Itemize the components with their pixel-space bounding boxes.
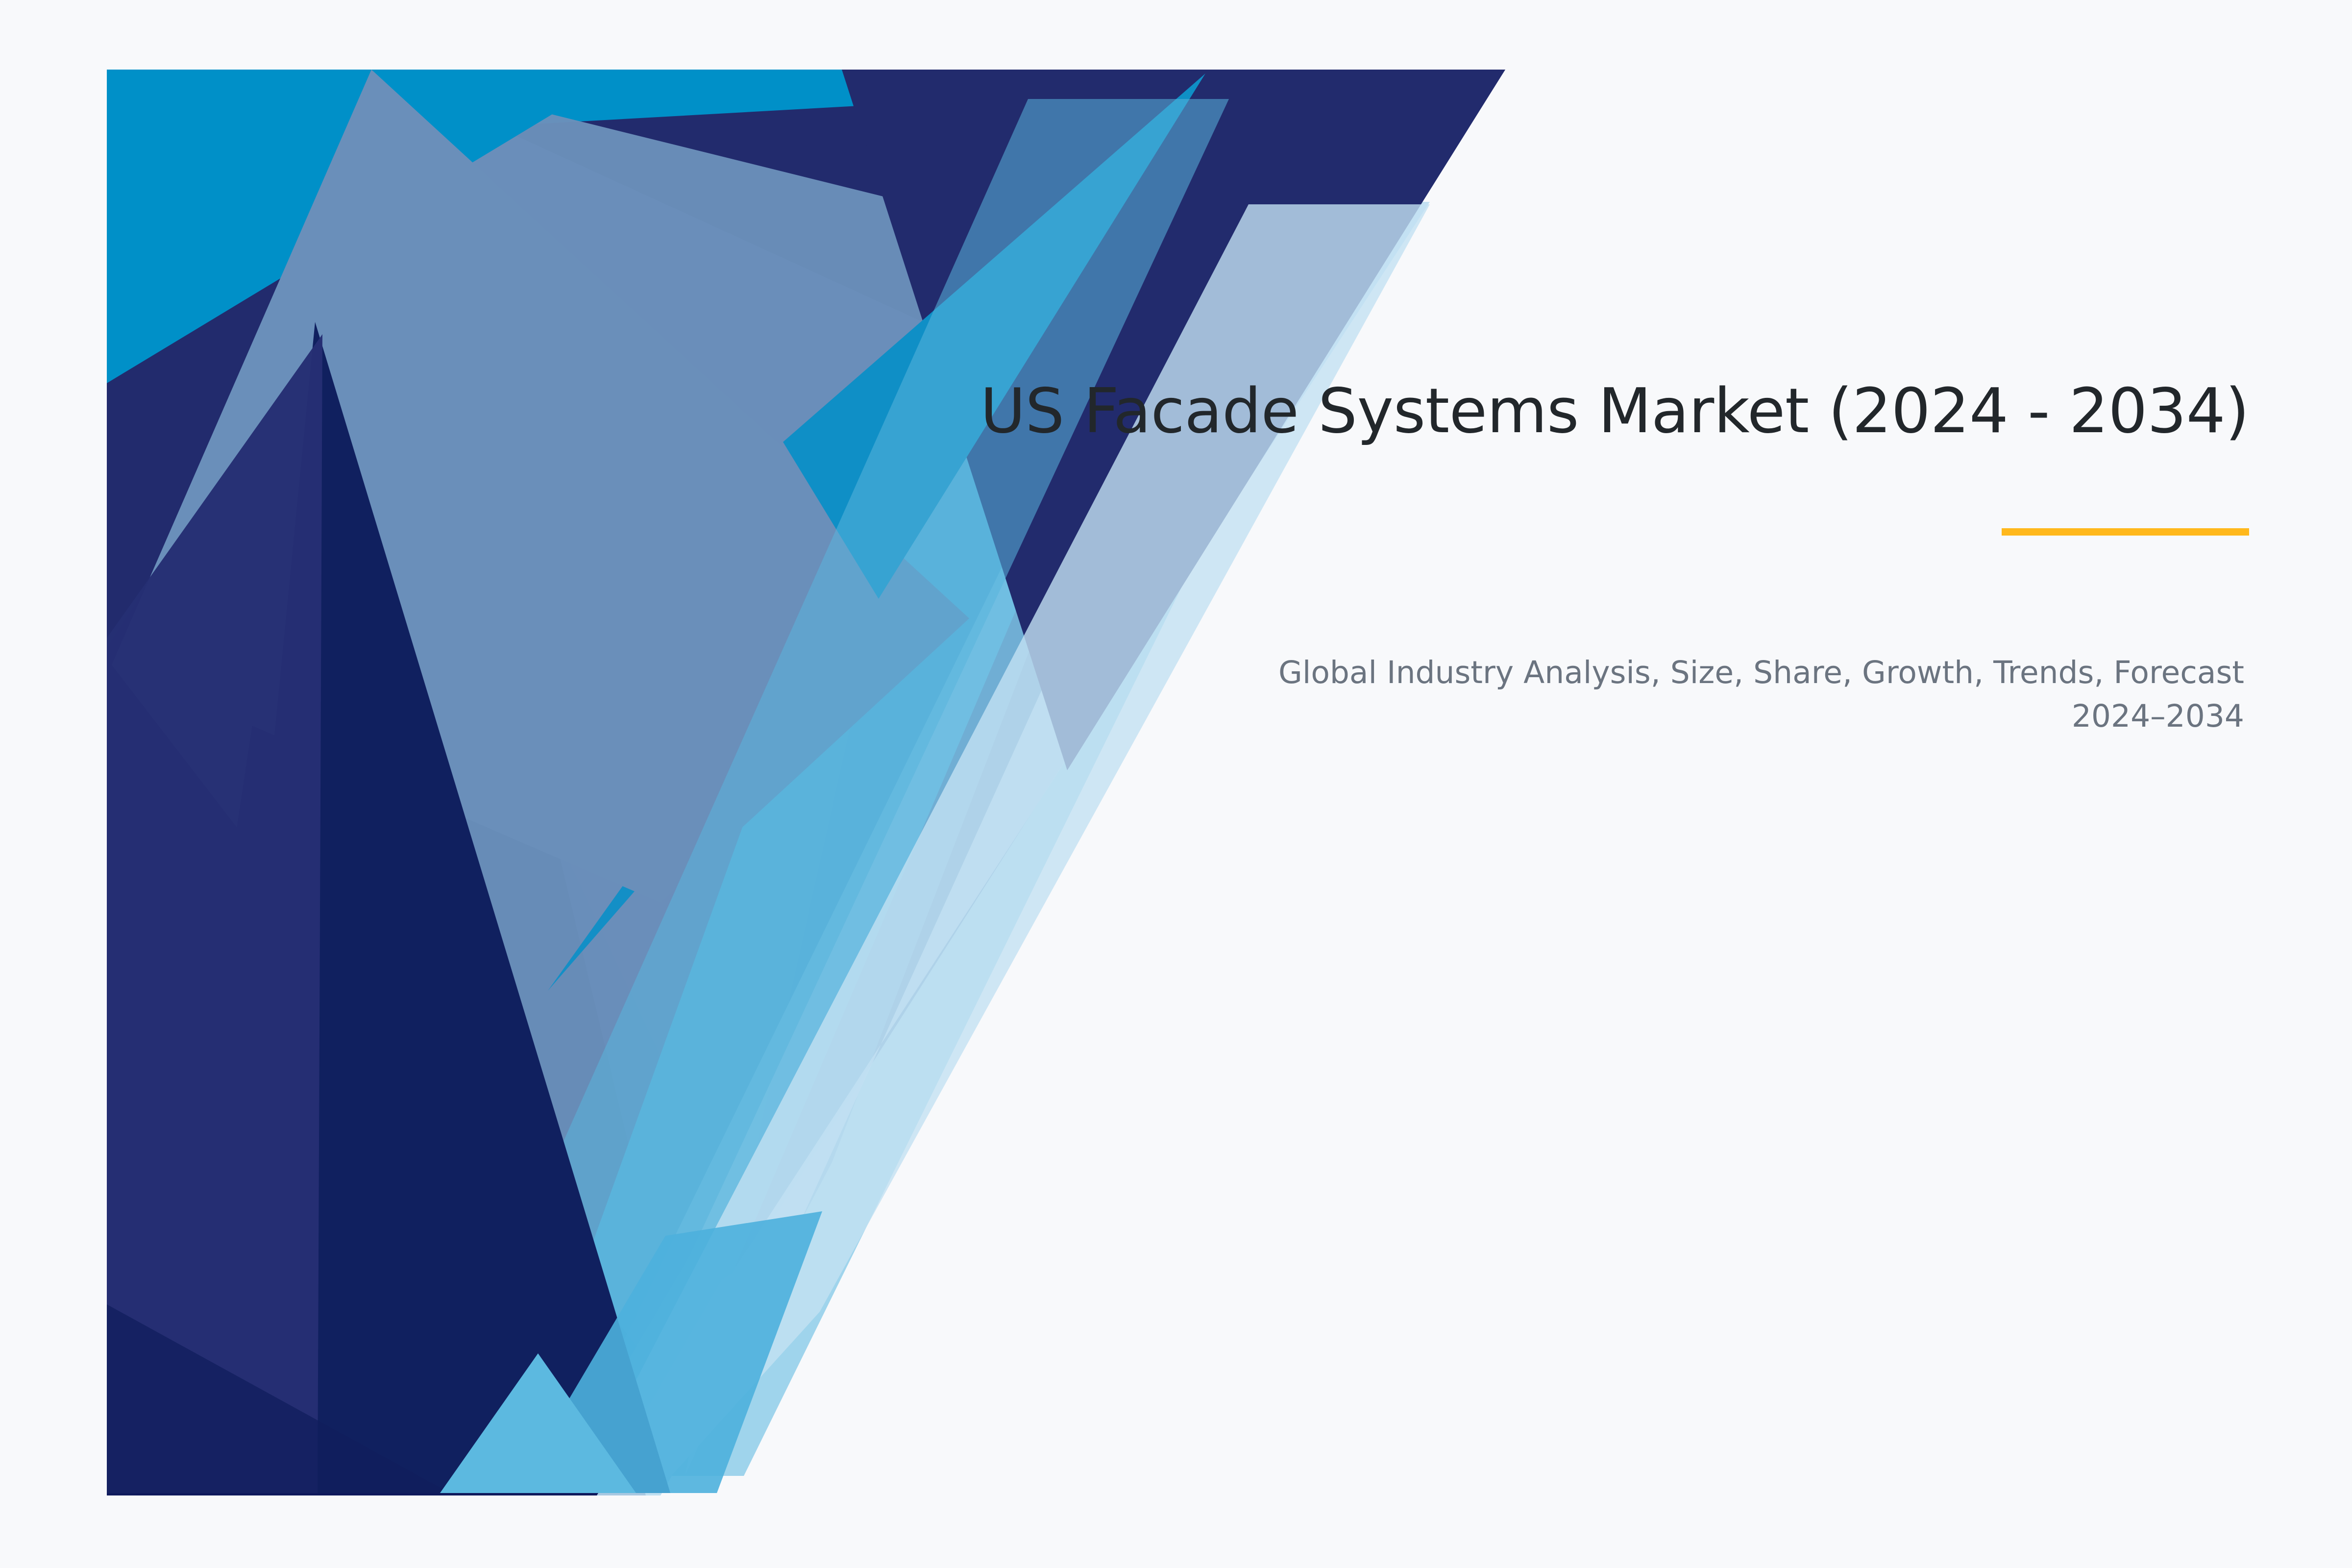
title-block: US Facade Systems Market (2024 - 2034) <box>735 372 2249 450</box>
abstract-polygon-artwork <box>107 70 1505 1495</box>
cover-slide: US Facade Systems Market (2024 - 2034) G… <box>0 0 2352 1568</box>
page-title: US Facade Systems Market (2024 - 2034) <box>735 372 2249 450</box>
page-subtitle: Global Industry Analysis, Size, Share, G… <box>1274 651 2244 738</box>
title-underline-bar <box>2002 528 2249 536</box>
